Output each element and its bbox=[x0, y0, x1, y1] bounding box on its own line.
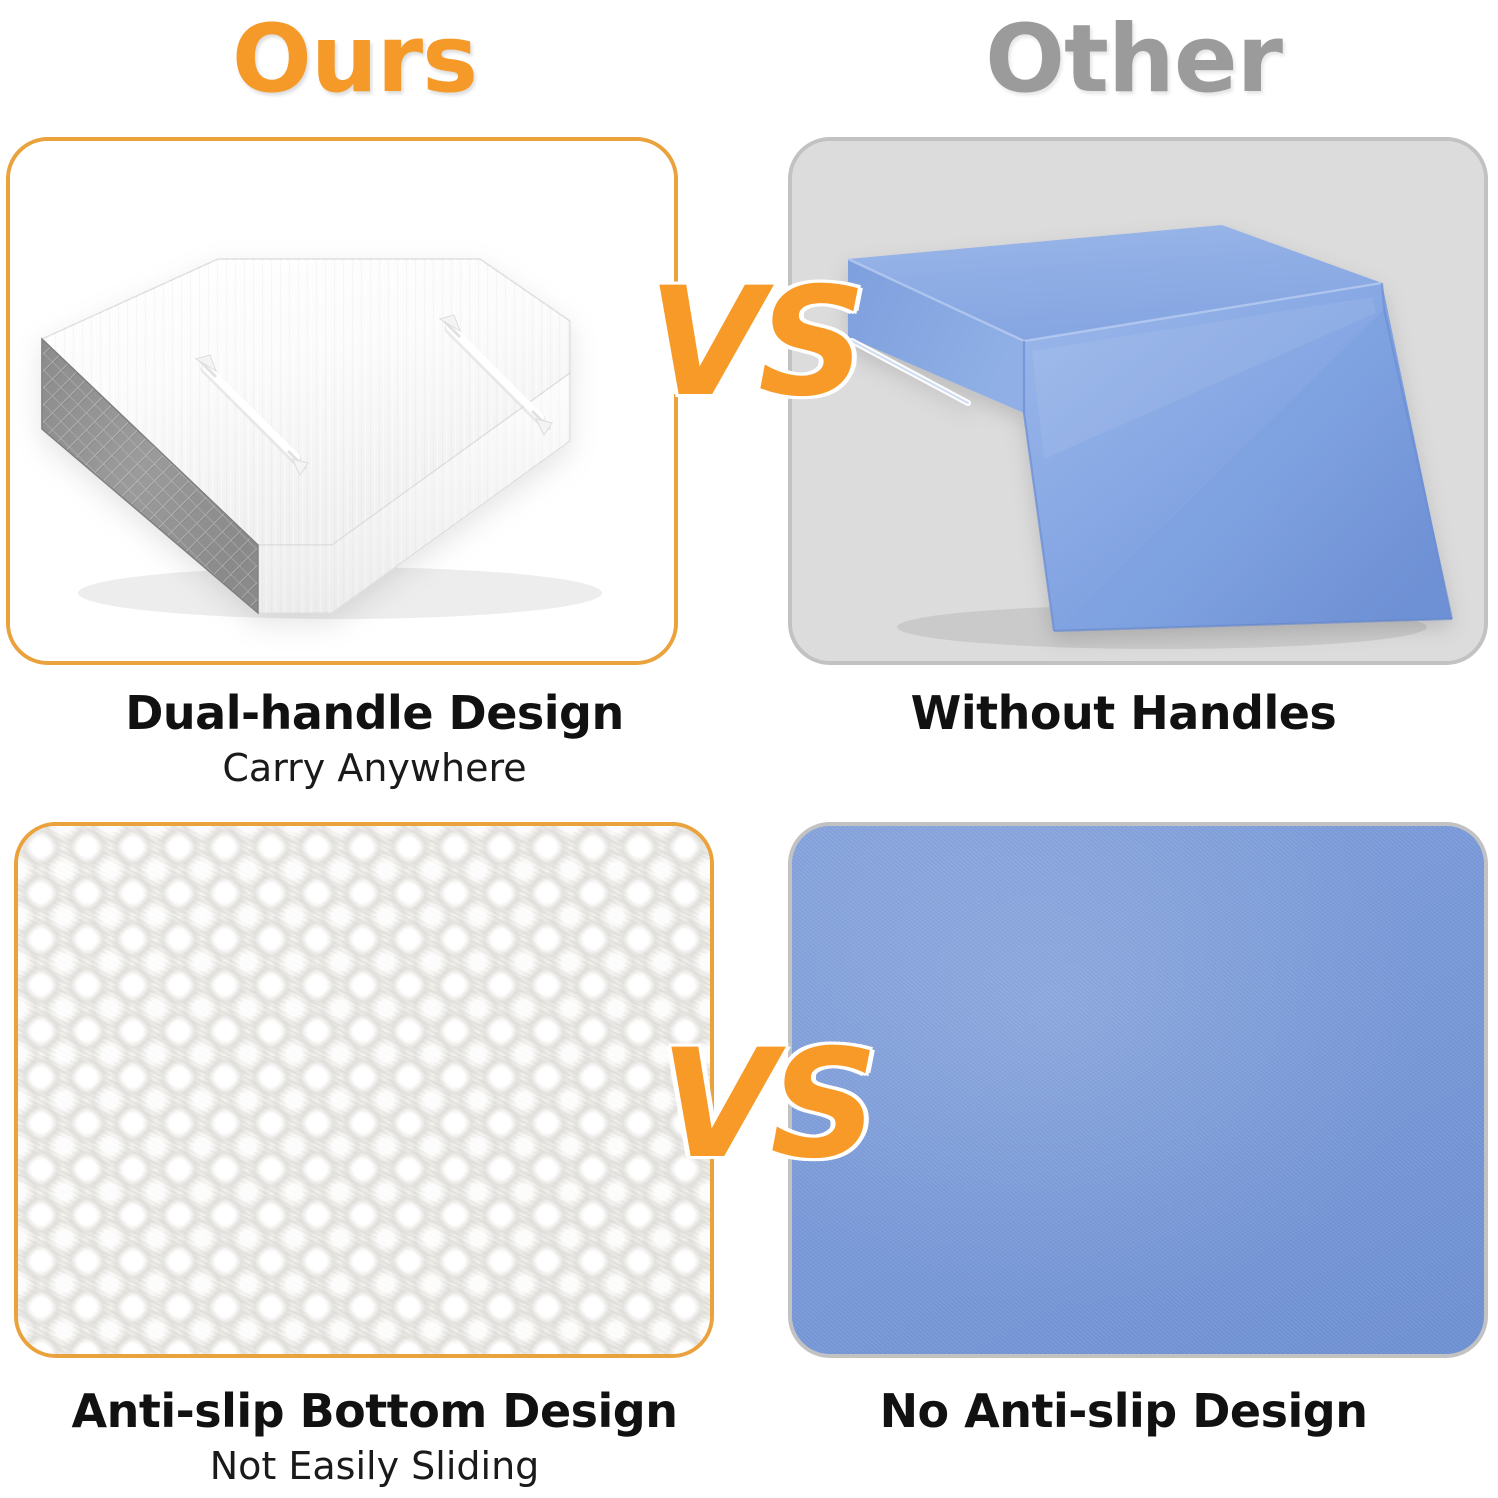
white-wedge-pillow-image bbox=[10, 141, 674, 661]
white-wedge-pillow-illustration bbox=[10, 141, 674, 661]
anti-slip-dotted-fabric-image bbox=[18, 826, 710, 1354]
caption-other-no-anti-slip: No Anti-slip Design bbox=[749, 1386, 1498, 1438]
column-headers: Ours Other bbox=[0, 0, 1498, 120]
blue-wedge-pillow-image bbox=[792, 141, 1484, 661]
panel-other-no-anti-slip bbox=[788, 822, 1488, 1358]
column-header-ours: Ours bbox=[0, 0, 749, 120]
comparison-infographic: Ours Other bbox=[0, 0, 1498, 1498]
blue-wedge-pillow-illustration bbox=[792, 141, 1484, 665]
caption-ours-dual-handle: Dual-handle Design Carry Anywhere bbox=[0, 688, 749, 791]
caption-subtitle: Carry Anywhere bbox=[0, 746, 749, 792]
caption-title: No Anti-slip Design bbox=[749, 1386, 1498, 1438]
plain-blue-fabric-image bbox=[792, 826, 1484, 1354]
panel-ours-dual-handle bbox=[6, 137, 678, 665]
caption-title: Anti-slip Bottom Design bbox=[0, 1386, 749, 1438]
vs-badge-row-1: VS bbox=[648, 268, 860, 418]
caption-title: Dual-handle Design bbox=[0, 688, 749, 740]
caption-ours-anti-slip: Anti-slip Bottom Design Not Easily Slidi… bbox=[0, 1386, 749, 1489]
caption-other-without-handles: Without Handles bbox=[749, 688, 1498, 740]
vs-badge-row-2: VS bbox=[660, 1030, 872, 1180]
column-header-other: Other bbox=[749, 0, 1498, 120]
caption-title: Without Handles bbox=[749, 688, 1498, 740]
panel-other-without-handles bbox=[788, 137, 1488, 665]
panel-ours-anti-slip bbox=[14, 822, 714, 1358]
caption-subtitle: Not Easily Sliding bbox=[0, 1444, 749, 1490]
